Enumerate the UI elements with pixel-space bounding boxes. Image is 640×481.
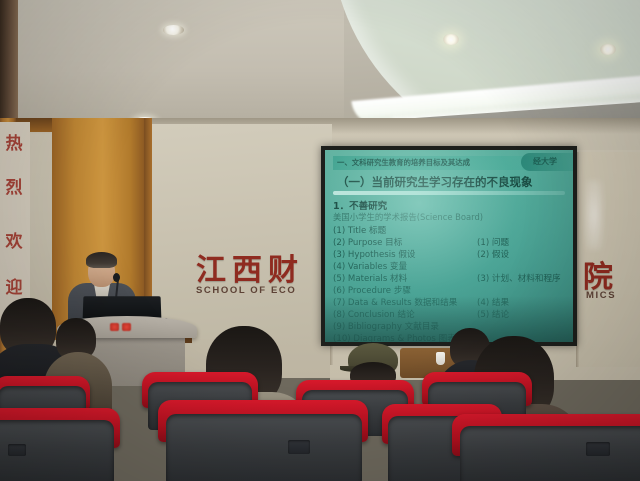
paper-cup [436, 352, 445, 365]
podium-emblem [110, 323, 140, 331]
slide-list-item: (3) Hypothesis 假设 [333, 248, 416, 260]
seat-back-panel [166, 414, 362, 481]
slide-right-item: (5) 结论 [477, 308, 509, 320]
slide-right-item: (1) 问题 [477, 236, 509, 248]
slide-list-item: (8) Conclusion 结论 [333, 308, 415, 320]
slide-right-item: (2) 假设 [477, 248, 509, 260]
wall-light-reflection [585, 180, 603, 250]
banner-char: 热 [3, 136, 25, 153]
seat-number-plate [586, 442, 610, 456]
slide-right-item: (4) 结果 [477, 296, 509, 308]
slide-note: 美国小学生的学术报告(Science Board) [333, 211, 483, 223]
slide-list-item: (6) Procedure 步骤 [333, 284, 411, 296]
banner-char: 欢 [3, 234, 25, 251]
slide-list-item: (9) Bibliography 文献目录 [333, 320, 439, 332]
wall-panel-center [152, 124, 332, 339]
slide-list-item: (1) Title 标题 [333, 224, 386, 236]
ceiling-edge-trim [0, 0, 18, 120]
banner-char: 迎 [3, 280, 25, 297]
slide-list-item: (5) Materials 材料 [333, 272, 407, 284]
banner-char: 烈 [3, 180, 25, 197]
downlight-icon [443, 34, 459, 45]
wall-sign-english-right: MICS [586, 290, 616, 301]
seat-back-panel [460, 426, 640, 481]
presentation-slide: 一、文科研究生教育的培养目标及其达成 经大学 （一）当前研究生学习存在的不良现象… [325, 150, 573, 342]
slide-subtitle: （一）当前研究生学习存在的不良现象 [337, 174, 533, 190]
slide-right-item: (3) 计划、材料和程序 [477, 272, 561, 284]
slide-logo-text: 经大学 [533, 156, 557, 167]
seat-number-plate [8, 444, 26, 456]
wall-sign-english-left: SCHOOL OF ECO [196, 285, 296, 296]
speaker-hair [86, 252, 117, 268]
wall-sign-chinese-left: 江西财 [196, 245, 304, 289]
seat-number-plate [288, 440, 310, 454]
podium-emblem-mark [110, 323, 119, 331]
ceiling-panel-left [14, 0, 344, 118]
slide-divider [333, 191, 565, 195]
projection-screen: 一、文科研究生教育的培养目标及其达成 经大学 （一）当前研究生学习存在的不良现象… [325, 150, 573, 342]
lecture-hall-photo: 热 烈 欢 迎 江西财 SCHOOL OF ECO 院 MICS 一、文科研究生… [0, 0, 640, 481]
podium-emblem-mark [122, 323, 131, 331]
slide-list-item: (7) Data & Results 数据和结果 [333, 296, 457, 308]
slide-title: 一、文科研究生教育的培养目标及其达成 [337, 157, 543, 168]
slide-list-item: (2) Purpose 目标 [333, 236, 402, 248]
slide-list-item: (4) Variables 变量 [333, 260, 407, 272]
downlight-icon [163, 25, 184, 35]
slide-heading: 1．不善研究 [333, 198, 387, 212]
microphone-icon [113, 273, 120, 282]
downlight-icon [600, 44, 616, 55]
